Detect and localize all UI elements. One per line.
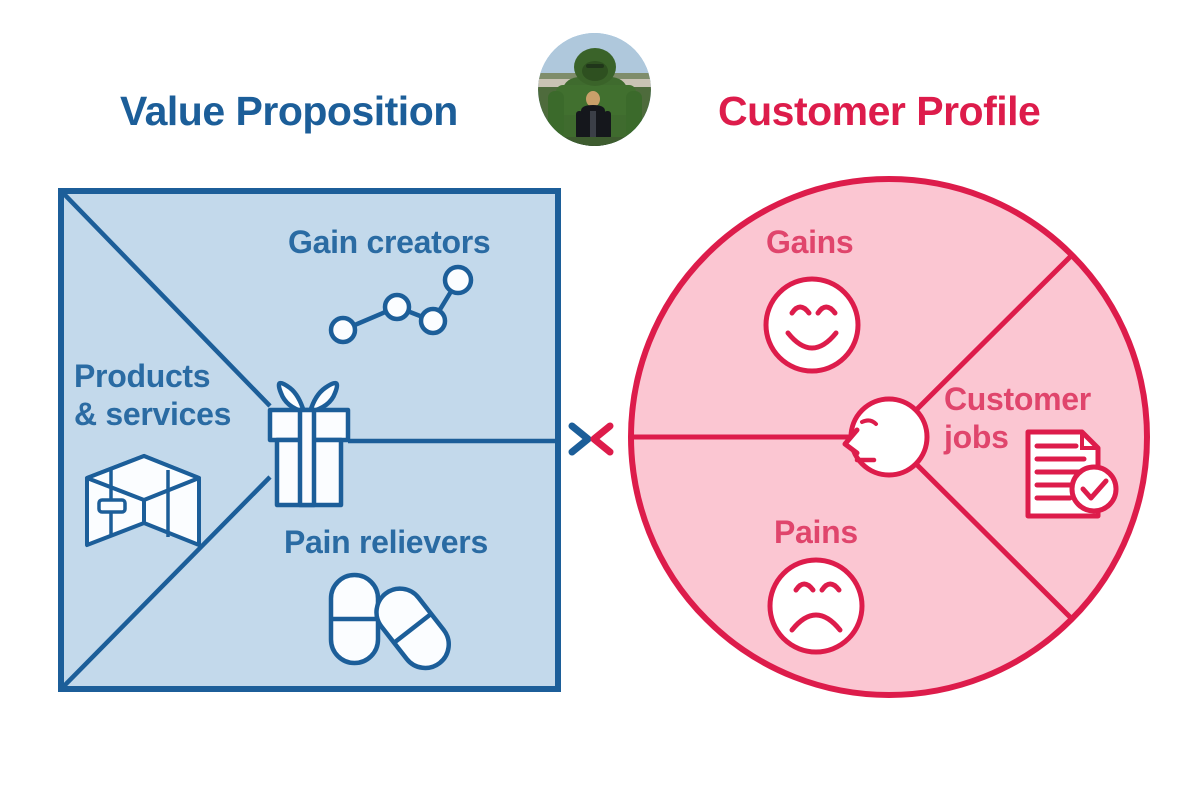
label-gain-creators: Gain creators [288, 224, 490, 261]
blue-arrow-pointing-right [572, 426, 588, 452]
label-gains: Gains [766, 224, 853, 261]
label-customer-jobs: Customerjobs [944, 380, 1119, 456]
avatar-photo-icon [538, 33, 651, 146]
label-pains: Pains [774, 514, 858, 551]
connector-arrows [548, 412, 668, 472]
label-products-services: Products& services [74, 357, 264, 433]
smiley-happy-face-icon [766, 279, 858, 371]
profile-avatar [538, 33, 651, 146]
red-arrow-pointing-left [594, 426, 610, 452]
value-proposition-title: Value Proposition [120, 88, 458, 135]
value-proposition-square[interactable] [58, 188, 561, 692]
value-proposition-canvas: Value Proposition Customer Profile [0, 0, 1200, 801]
label-pain-relievers: Pain relievers [284, 524, 488, 561]
customer-profile-title: Customer Profile [718, 88, 1040, 135]
smiley-sad-face-icon [770, 560, 862, 652]
